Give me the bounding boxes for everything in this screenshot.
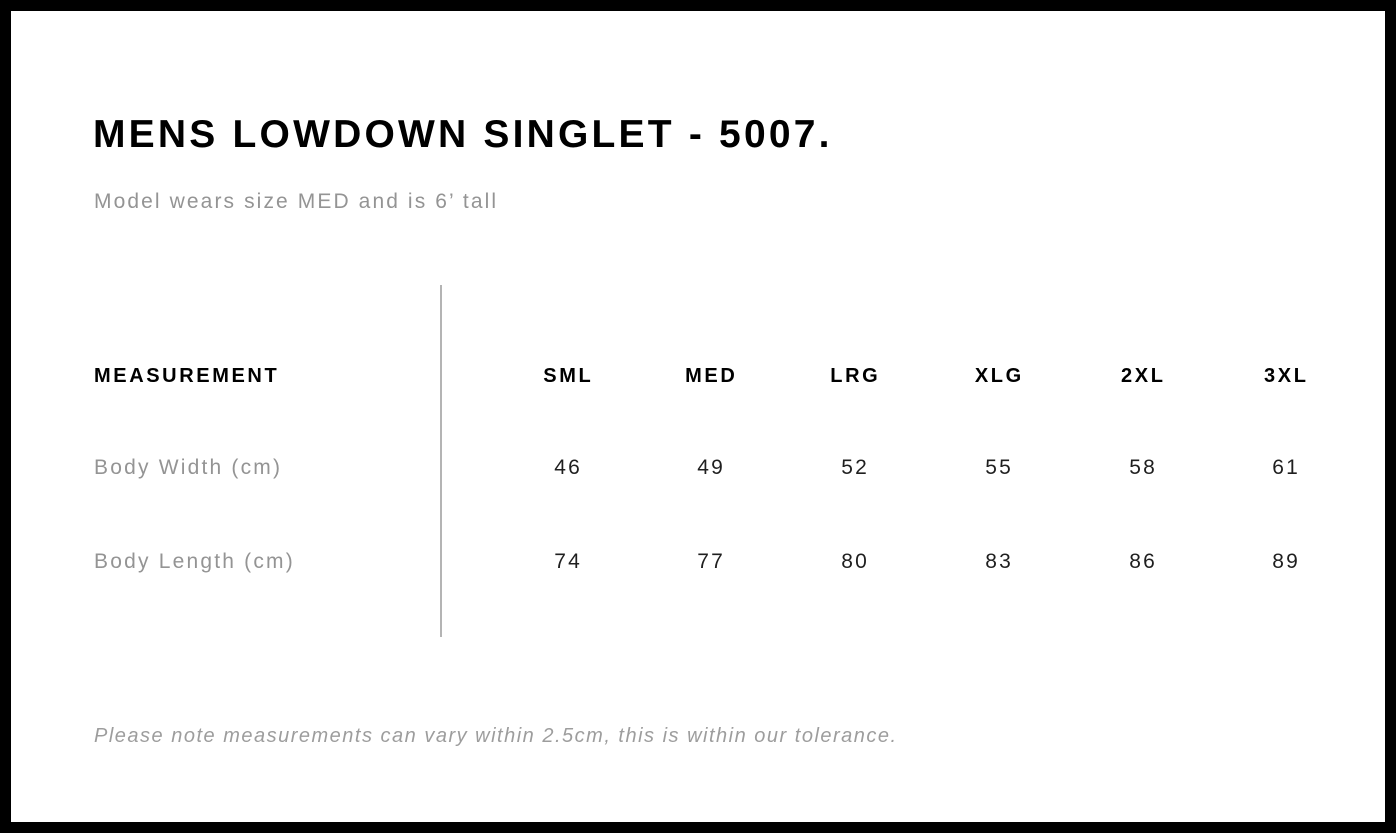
- cell-body-width-lrg: 52: [794, 448, 914, 488]
- cell-body-length-3xl: 89: [1225, 542, 1345, 582]
- table-header-row: MEASUREMENT SML MED LRG XLG 2XL 3XL: [11, 356, 1385, 396]
- cell-body-width-sml: 46: [507, 448, 627, 488]
- column-header-xlg: XLG: [938, 356, 1058, 396]
- cell-body-width-3xl: 61: [1225, 448, 1345, 488]
- row-label-body-width: Body Width (cm): [94, 448, 282, 488]
- cell-body-length-lrg: 80: [794, 542, 914, 582]
- row-label-body-length: Body Length (cm): [94, 542, 295, 582]
- table-row: Body Width (cm) 46 49 52 55 58 61: [11, 448, 1385, 488]
- table-row: Body Length (cm) 74 77 80 83 86 89: [11, 542, 1385, 582]
- cell-body-width-med: 49: [650, 448, 770, 488]
- tolerance-note: Please note measurements can vary within…: [94, 726, 898, 746]
- cell-body-width-2xl: 58: [1082, 448, 1202, 488]
- cell-body-width-xlg: 55: [938, 448, 1058, 488]
- cell-body-length-xlg: 83: [938, 542, 1058, 582]
- cell-body-length-2xl: 86: [1082, 542, 1202, 582]
- size-chart-card: MENS LOWDOWN SINGLET - 5007. Model wears…: [11, 11, 1385, 822]
- size-table: MEASUREMENT SML MED LRG XLG 2XL 3XL Body…: [11, 11, 1385, 822]
- column-header-measurement: MEASUREMENT: [94, 356, 279, 396]
- column-header-2xl: 2XL: [1082, 356, 1202, 396]
- column-header-med: MED: [650, 356, 770, 396]
- cell-body-length-med: 77: [650, 542, 770, 582]
- column-header-sml: SML: [507, 356, 627, 396]
- cell-body-length-sml: 74: [507, 542, 627, 582]
- column-header-3xl: 3XL: [1225, 356, 1345, 396]
- column-header-lrg: LRG: [794, 356, 914, 396]
